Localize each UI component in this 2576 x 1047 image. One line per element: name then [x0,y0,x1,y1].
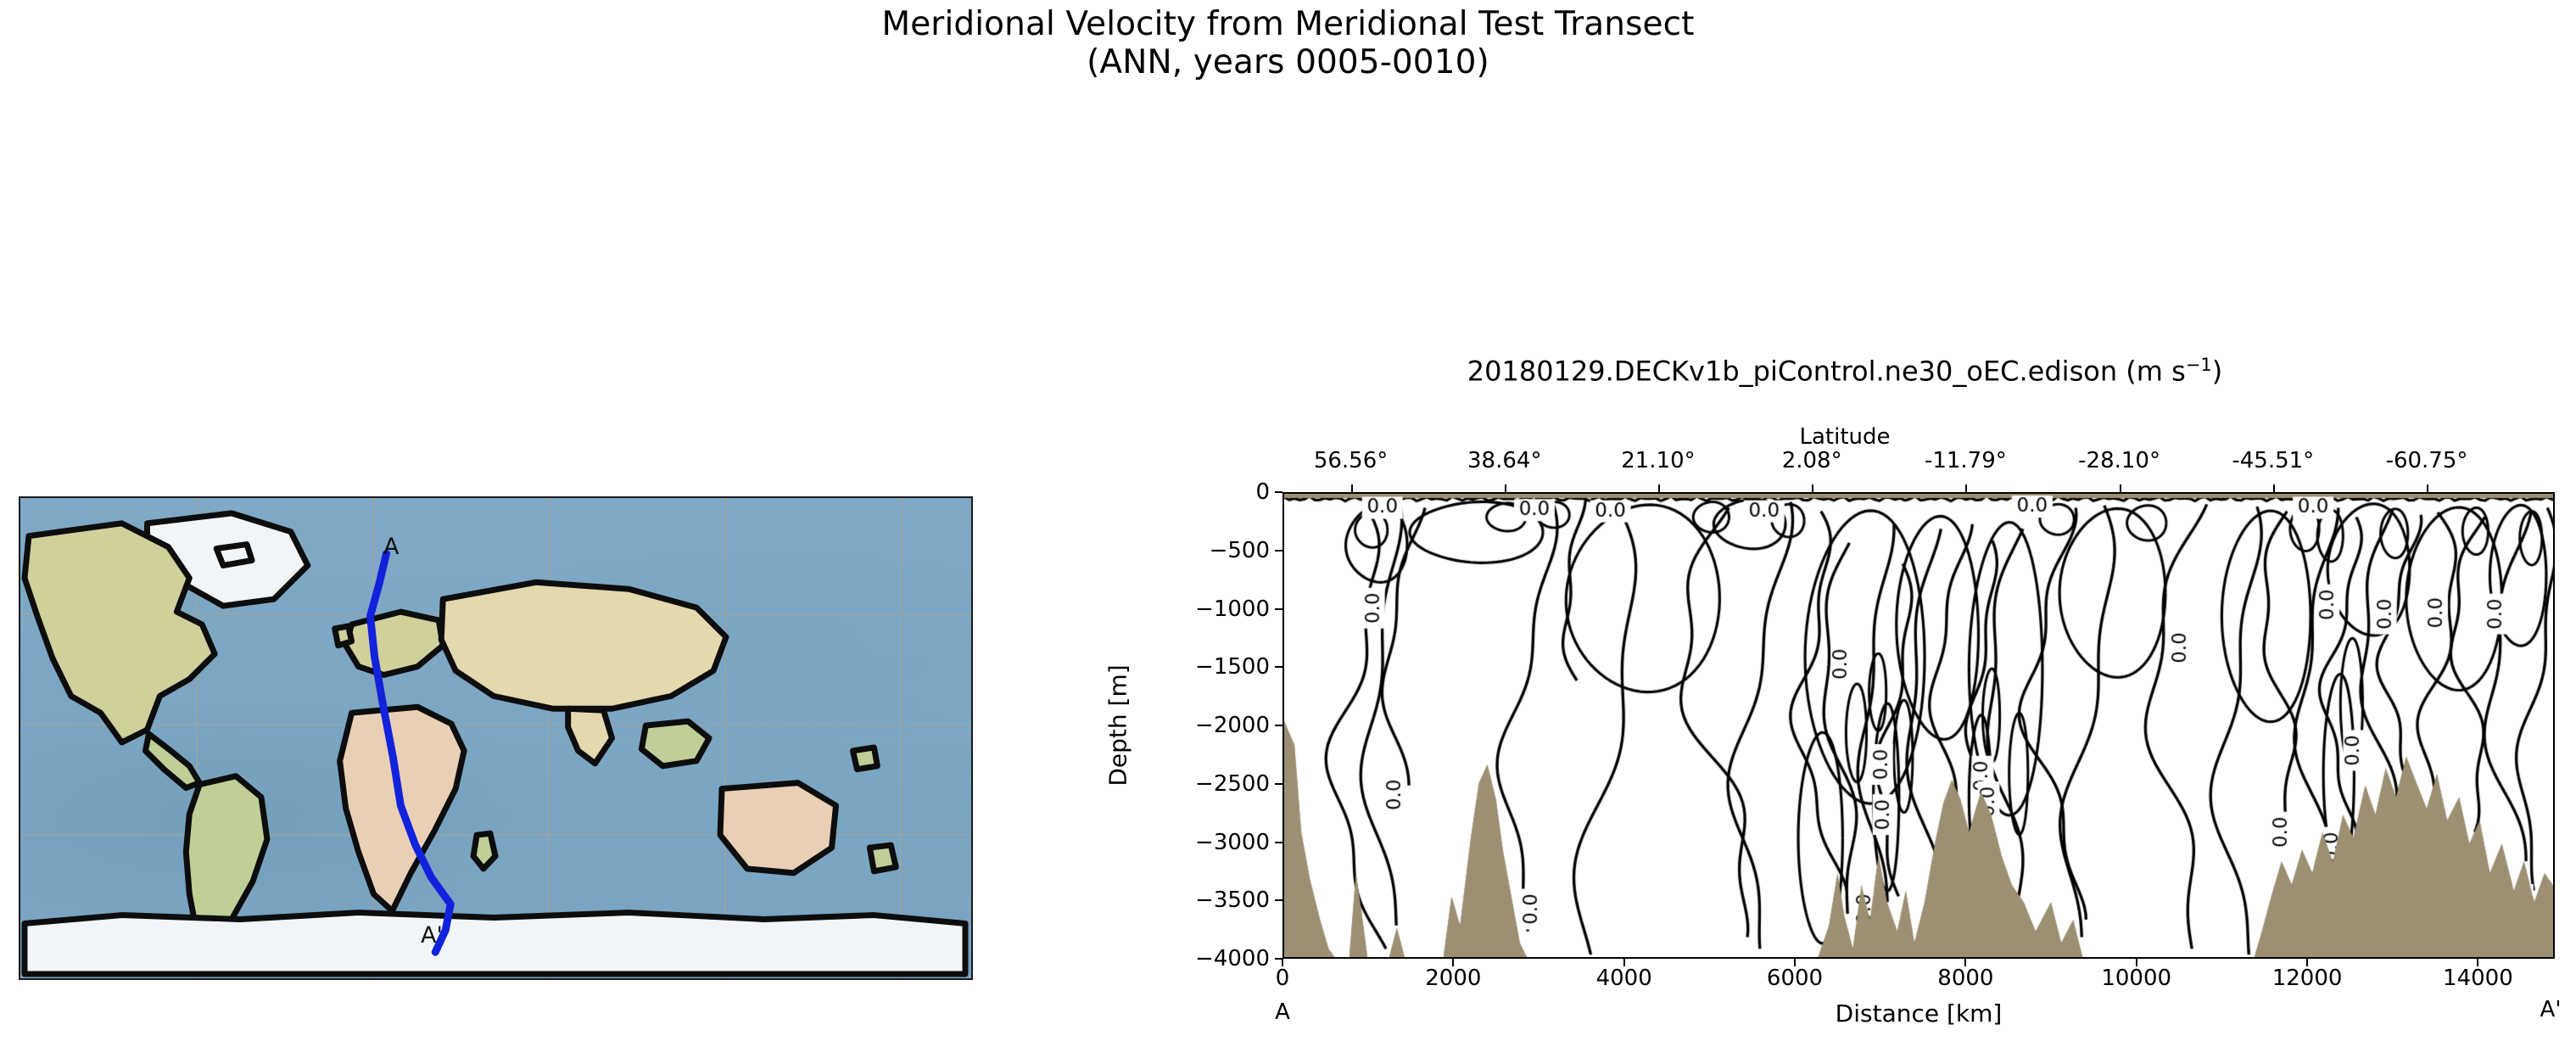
landmass-australia [720,783,836,873]
depth-tick-mark-4 [1275,725,1282,726]
depth-tick-6: −3000 [1143,830,1270,855]
depth-tick-5: −2500 [1143,771,1270,797]
latitude-tick-mark-4 [1965,484,1967,492]
figure-title-line-2: (ANN, years 0005-0010) [0,43,2576,81]
latitude-axis-label: Latitude [1128,424,2562,450]
landmass-india [568,708,612,764]
latitude-tick-mark-1 [1505,484,1506,492]
distance-tick-7: 14000 [2443,966,2513,991]
depth-tick-mark-1 [1275,550,1282,551]
distance-tick-mark-0 [1282,959,1283,966]
distance-tick-1: 2000 [1425,966,1481,991]
map-transect-start-label: A [383,534,399,560]
world-map-panel: A A' [19,496,973,980]
distance-tick-mark-2 [1623,959,1625,966]
latitude-tick-1: 38.64° [1467,448,1541,473]
map-transect-end-label: A' [421,922,443,949]
plot-endpoint-a-prime-label: A' [2540,997,2562,1022]
depth-tick-7: −3500 [1143,887,1270,913]
landmass-baffin [216,545,252,566]
latitude-tick-4: -11.79° [1925,448,2007,473]
depth-tick-mark-6 [1275,842,1282,843]
depth-tick-1: −500 [1143,538,1270,563]
latitude-tick-0: 56.56° [1314,448,1388,473]
depth-axis-label: Depth [m] [1104,664,1132,786]
distance-tick-0: 0 [1276,966,1290,991]
depth-tick-mark-0 [1275,491,1282,493]
landmass-british-isles [335,626,352,646]
latitude-tick-6: -45.51° [2232,448,2314,473]
latitude-tick-mark-6 [2273,484,2275,492]
contour-plot-title: 20180129.DECKv1b_piControl.ne30_oEC.edis… [1128,348,2562,389]
distance-tick-mark-3 [1794,959,1796,966]
depth-tick-8: −4000 [1143,946,1270,971]
landmass-pacific-island [852,747,877,770]
latitude-tick-mark-2 [1658,484,1660,492]
landmass-europe [346,612,444,675]
landmass-new-zealand [869,845,896,871]
distance-tick-mark-6 [2306,959,2308,966]
latitude-tick-5: -28.10° [2078,448,2160,473]
distance-tick-mark-1 [1452,959,1454,966]
distance-tick-mark-4 [1964,959,1966,966]
landmass-madagascar [473,833,495,869]
landmass-antarctica [25,913,965,974]
contour-plot-canvas [1284,494,2555,959]
distance-tick-mark-5 [2136,959,2137,966]
distance-tick-6: 12000 [2272,966,2343,991]
contour-plot-title-text: 20180129.DECKv1b_piControl.ne30_oEC.edis… [1467,356,2186,388]
depth-tick-mark-7 [1275,899,1282,901]
latitude-tick-mark-5 [2120,484,2121,492]
latitude-tick-7: -60.75° [2386,448,2468,473]
latitude-tick-mark-3 [1812,484,1813,492]
distance-tick-4: 8000 [1937,966,1993,991]
figure-title: Meridional Velocity from Meridional Test… [0,5,2576,81]
latitude-tick-mark-0 [1351,484,1353,492]
landmass-asia [441,582,726,708]
distance-tick-3: 6000 [1767,966,1823,991]
depth-tick-2: −1000 [1143,596,1270,622]
depth-tick-4: −2000 [1143,713,1270,738]
landmass-central-america [145,734,199,788]
latitude-tick-3: 2.08° [1782,448,1842,473]
depth-tick-mark-3 [1275,666,1282,668]
figure-title-line-1: Meridional Velocity from Meridional Test… [0,5,2576,43]
latitude-tick-mark-7 [2427,484,2428,492]
distance-tick-5: 10000 [2101,966,2171,991]
distance-tick-2: 4000 [1596,966,1652,991]
landmass-southeast-asia [641,721,709,766]
plot-endpoint-a-label: A [1275,999,1290,1025]
latitude-tick-labels: 56.56°38.64°21.10°2.08°-11.79°-28.10°-45… [0,448,2576,475]
coastlines [25,513,965,974]
contour-plot-title-superscript: −1 [2186,355,2212,375]
depth-tick-mark-5 [1275,783,1282,785]
distance-axis-label: Distance [km] [1282,999,2555,1027]
depth-tick-3: −1500 [1143,654,1270,680]
depth-tick-mark-2 [1275,608,1282,610]
depth-tick-0: 0 [1143,479,1270,505]
latitude-tick-2: 21.10° [1621,448,1695,473]
map-overlay-svg [20,498,971,978]
contour-plot-frame [1282,492,2555,959]
distance-tick-mark-7 [2477,959,2478,966]
contour-plot-title-suffix: ) [2212,356,2222,388]
